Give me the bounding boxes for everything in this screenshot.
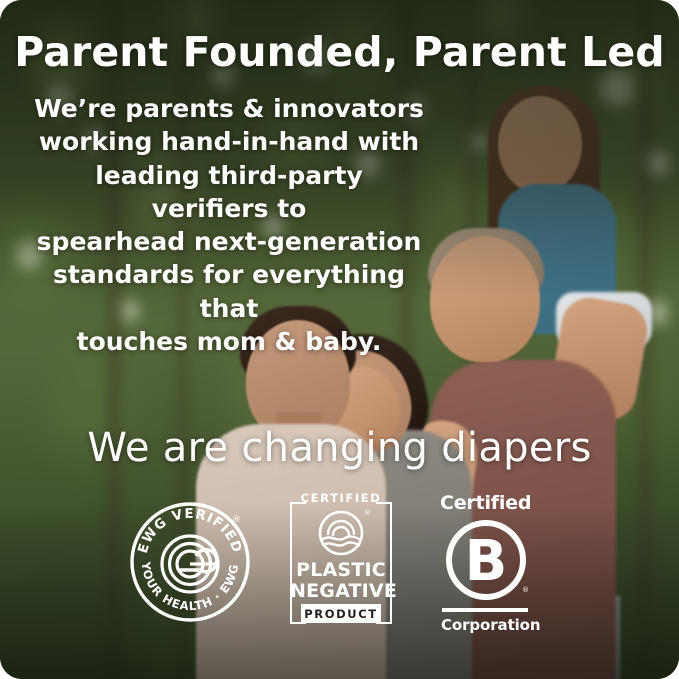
tagline: We are changing diapers (0, 428, 679, 468)
lede-line: touches mom & baby. (34, 325, 424, 358)
plastic-negative-line2: NEGATIVE (290, 581, 392, 602)
plastic-negative-registered-mark: ® (364, 510, 371, 517)
certification-badge-row: · EWG VERIFIED · FOR YOUR HEALTH · EWG.O… (0, 494, 679, 644)
ewg-verified-badge: · EWG VERIFIED · FOR YOUR HEALTH · EWG.O… (128, 500, 252, 624)
promo-card: Parent Founded, Parent Led We’re parents… (0, 0, 679, 679)
lede-paragraph: We’re parents & innovators working hand-… (34, 92, 424, 358)
page-title: Parent Founded, Parent Led (0, 30, 679, 76)
plastic-negative-title: PLASTIC NEGATIVE (290, 560, 392, 601)
sun-over-waves-icon (318, 510, 364, 556)
plastic-negative-product-chip: PRODUCT (301, 604, 381, 623)
certified-b-corporation-badge: Certified B ® Corporation (440, 492, 532, 634)
ewg-emblem-icon (162, 536, 218, 592)
bcorp-registered-mark: ® (522, 586, 529, 594)
bcorp-letter: B (465, 529, 508, 594)
lede-line: spearhead next-generation (34, 225, 424, 258)
b-corp-circle-icon: B (444, 518, 528, 602)
bcorp-corporation-label: Corporation (441, 616, 540, 634)
bcorp-certified-label: Certified (440, 492, 531, 514)
plastic-negative-certified-label: CERTIFIED (290, 491, 392, 505)
lede-line: We’re parents & innovators (34, 92, 424, 125)
lede-line: leading third-party verifiers to (34, 159, 424, 226)
bcorp-divider (442, 608, 528, 612)
plastic-negative-badge: CERTIFIED ® PLASTIC NEGATIVE PRODUCT (290, 494, 392, 632)
plastic-negative-line1: PLASTIC (290, 560, 392, 581)
lede-line: working hand-in-hand with (34, 125, 424, 158)
ewg-registered-mark: ® (232, 515, 241, 525)
lede-line: standards for everything that (34, 258, 424, 325)
